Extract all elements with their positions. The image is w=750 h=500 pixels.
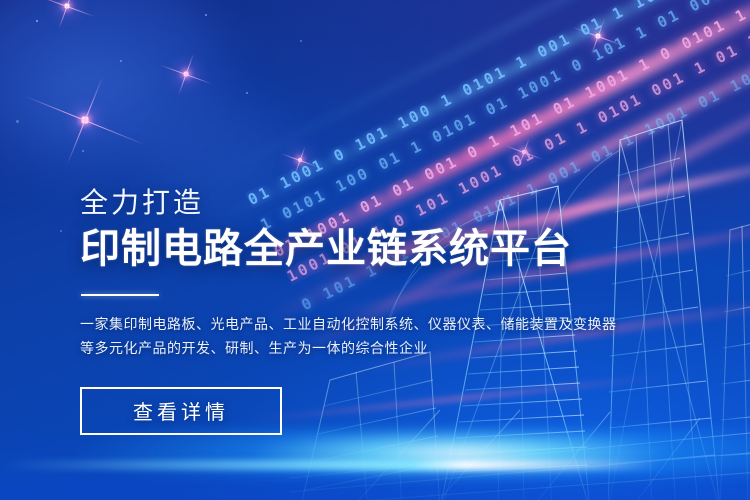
particle-dot bbox=[60, 230, 62, 232]
particle-dot bbox=[82, 150, 84, 152]
light-beam-core bbox=[0, 460, 750, 470]
particle-dot bbox=[300, 40, 302, 42]
hero-description-line-1: 一家集印制电路板、光电产品、工业自动化控制系统、仪器仪表、储能装置及变换器 bbox=[80, 312, 600, 336]
hero-content: 全力打造 印制电路全产业链系统平台 一家集印制电路板、光电产品、工业自动化控制系… bbox=[80, 188, 600, 435]
particle-dot bbox=[205, 14, 207, 16]
hero-description-line-2: 等多元化产品的开发、研制、生产为一体的综合性企业 bbox=[80, 336, 600, 360]
hero-eyebrow: 全力打造 bbox=[80, 188, 600, 219]
hero-banner: 01 1001 0 101 100 1 0101 1 001 01 1 1001… bbox=[0, 0, 750, 500]
hero-headline: 印制电路全产业链系统平台 bbox=[80, 227, 600, 272]
particle-dot bbox=[36, 20, 38, 22]
view-details-button[interactable]: 查看详情 bbox=[80, 387, 282, 435]
hero-description: 一家集印制电路板、光电产品、工业自动化控制系统、仪器仪表、储能装置及变换器 等多… bbox=[80, 312, 600, 360]
divider bbox=[81, 294, 159, 296]
particle-dot bbox=[120, 60, 122, 62]
particle-dot bbox=[16, 120, 19, 123]
